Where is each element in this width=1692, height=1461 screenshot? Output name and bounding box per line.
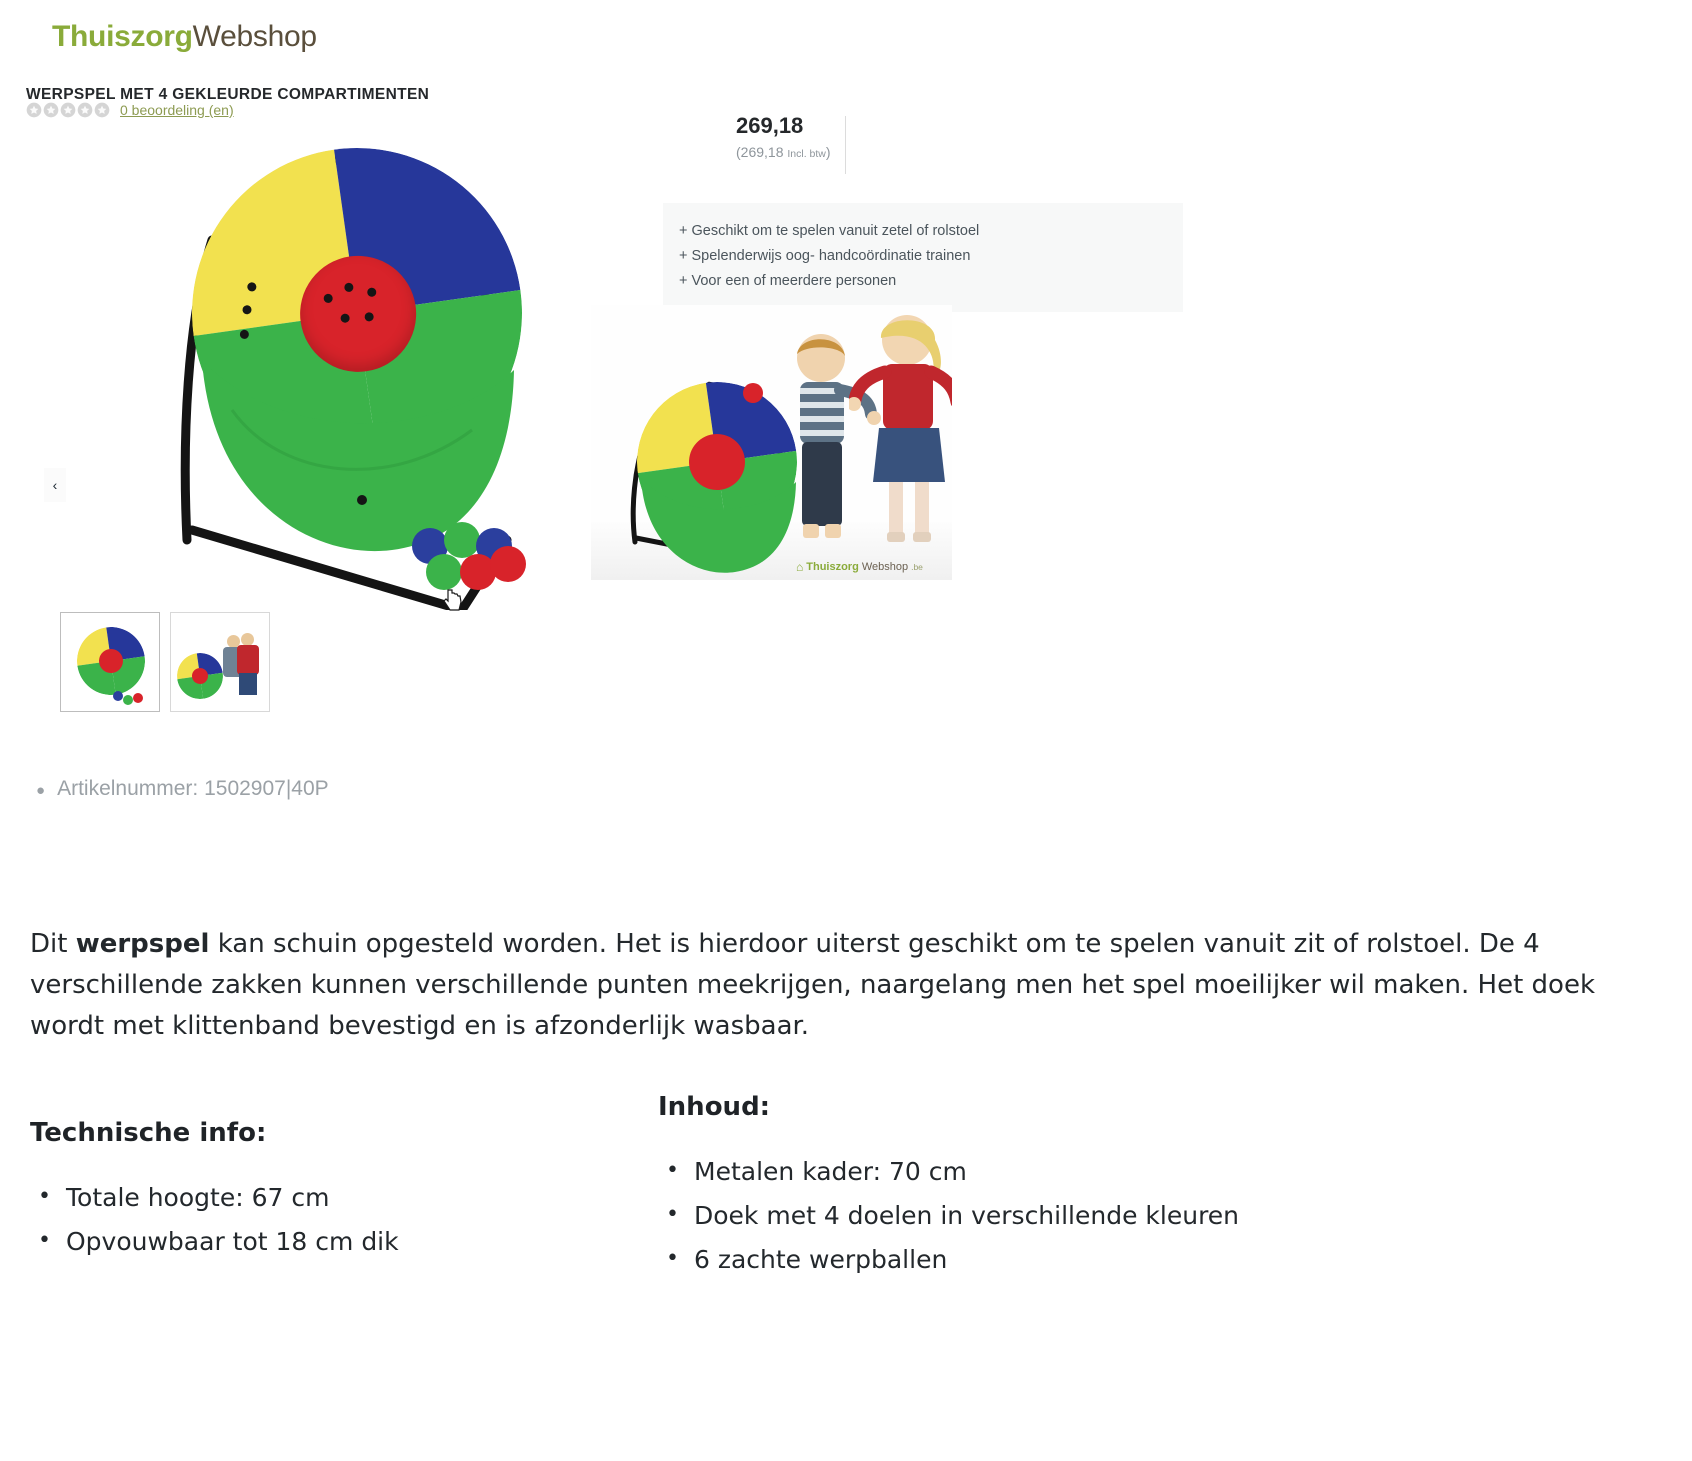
- star-icon: [26, 102, 42, 118]
- star-icon: [60, 102, 76, 118]
- bullet-icon: ●: [36, 783, 45, 798]
- description-pre: Dit: [30, 929, 76, 959]
- main-product-image[interactable]: [22, 130, 602, 600]
- product-gallery: ‹: [22, 130, 602, 600]
- thrown-ball: [743, 383, 763, 403]
- description-post: kan schuin opgesteld worden. Het is hier…: [30, 929, 1595, 1041]
- logo-text-primary: Thuiszorg: [52, 20, 193, 53]
- price-incl-close: ): [826, 144, 831, 160]
- watermark-pin-icon: ⌂: [796, 560, 803, 574]
- gallery-prev-button[interactable]: ‹: [44, 468, 66, 502]
- child-right-illustration: [849, 314, 952, 562]
- product-page: ThuiszorgWebshop WERPSPEL MET 4 GEKLEURD…: [0, 0, 1692, 1461]
- article-number: ● Artikelnummer: 1502907|40P: [36, 777, 329, 801]
- technical-info-heading: Technische info:: [30, 1118, 630, 1148]
- site-logo[interactable]: ThuiszorgWebshop: [52, 20, 317, 54]
- star-rating: [26, 102, 110, 118]
- star-icon: [77, 102, 93, 118]
- rating-row: 0 beoordeling (en): [26, 102, 234, 118]
- list-item: 6 zachte werpballen: [658, 1238, 1558, 1282]
- list-item: Totale hoogte: 67 cm: [30, 1176, 630, 1220]
- contents-list: Metalen kader: 70 cm Doek met 4 doelen i…: [658, 1150, 1558, 1282]
- technical-info-section: Technische info: Totale hoogte: 67 cm Op…: [30, 1118, 630, 1264]
- price-block: 269,18 (269,18 Incl. btw): [736, 114, 856, 160]
- article-number-label: Artikelnummer: 1502907|40P: [57, 777, 329, 801]
- thumbnail-lifestyle[interactable]: [170, 612, 270, 712]
- technical-info-list: Totale hoogte: 67 cm Opvouwbaar tot 18 c…: [30, 1176, 630, 1264]
- benefit-item: + Spelenderwijs oog- handcoördinatie tra…: [679, 244, 1163, 269]
- image-watermark: ⌂ThuiszorgWebshop.be: [796, 560, 923, 574]
- price-incl-vat: (269,18 Incl. btw): [736, 144, 856, 160]
- contents-section: Inhoud: Metalen kader: 70 cm Doek met 4 …: [658, 1092, 1558, 1282]
- price-incl-amount: (269,18: [736, 144, 783, 160]
- watermark-text-secondary: Webshop: [862, 561, 908, 573]
- thumbnail-product[interactable]: [60, 612, 160, 712]
- benefit-item: + Voor een of meerdere personen: [679, 269, 1163, 294]
- list-item: Doek met 4 doelen in verschillende kleur…: [658, 1194, 1558, 1238]
- list-item: Opvouwbaar tot 18 cm dik: [30, 1220, 630, 1264]
- product-illustration: [132, 140, 552, 610]
- description-bold: werpspel: [76, 929, 210, 959]
- logo-text-secondary: Webshop: [193, 20, 317, 53]
- price-amount: 269,18: [736, 114, 856, 138]
- vat-note: Incl. btw: [787, 148, 826, 160]
- list-item: Metalen kader: 70 cm: [658, 1150, 1558, 1194]
- product-description: Dit werpspel kan schuin opgesteld worden…: [30, 924, 1660, 1047]
- benefits-box: + Geschikt om te spelen vanuit zetel of …: [663, 203, 1183, 312]
- contents-heading: Inhoud:: [658, 1092, 1558, 1122]
- star-icon: [43, 102, 59, 118]
- benefit-item: + Geschikt om te spelen vanuit zetel of …: [679, 219, 1163, 244]
- star-icon: [94, 102, 110, 118]
- mini-product-illustration: [609, 372, 799, 562]
- price-divider: [845, 116, 846, 174]
- lifestyle-image[interactable]: ⌂ThuiszorgWebshop.be: [591, 305, 952, 580]
- review-count-link[interactable]: 0 beoordeling (en): [120, 102, 234, 118]
- thumbnail-strip: [60, 612, 270, 712]
- watermark-tld: .be: [911, 562, 923, 572]
- watermark-text-primary: Thuiszorg: [806, 561, 859, 573]
- throwing-balls: [402, 520, 522, 600]
